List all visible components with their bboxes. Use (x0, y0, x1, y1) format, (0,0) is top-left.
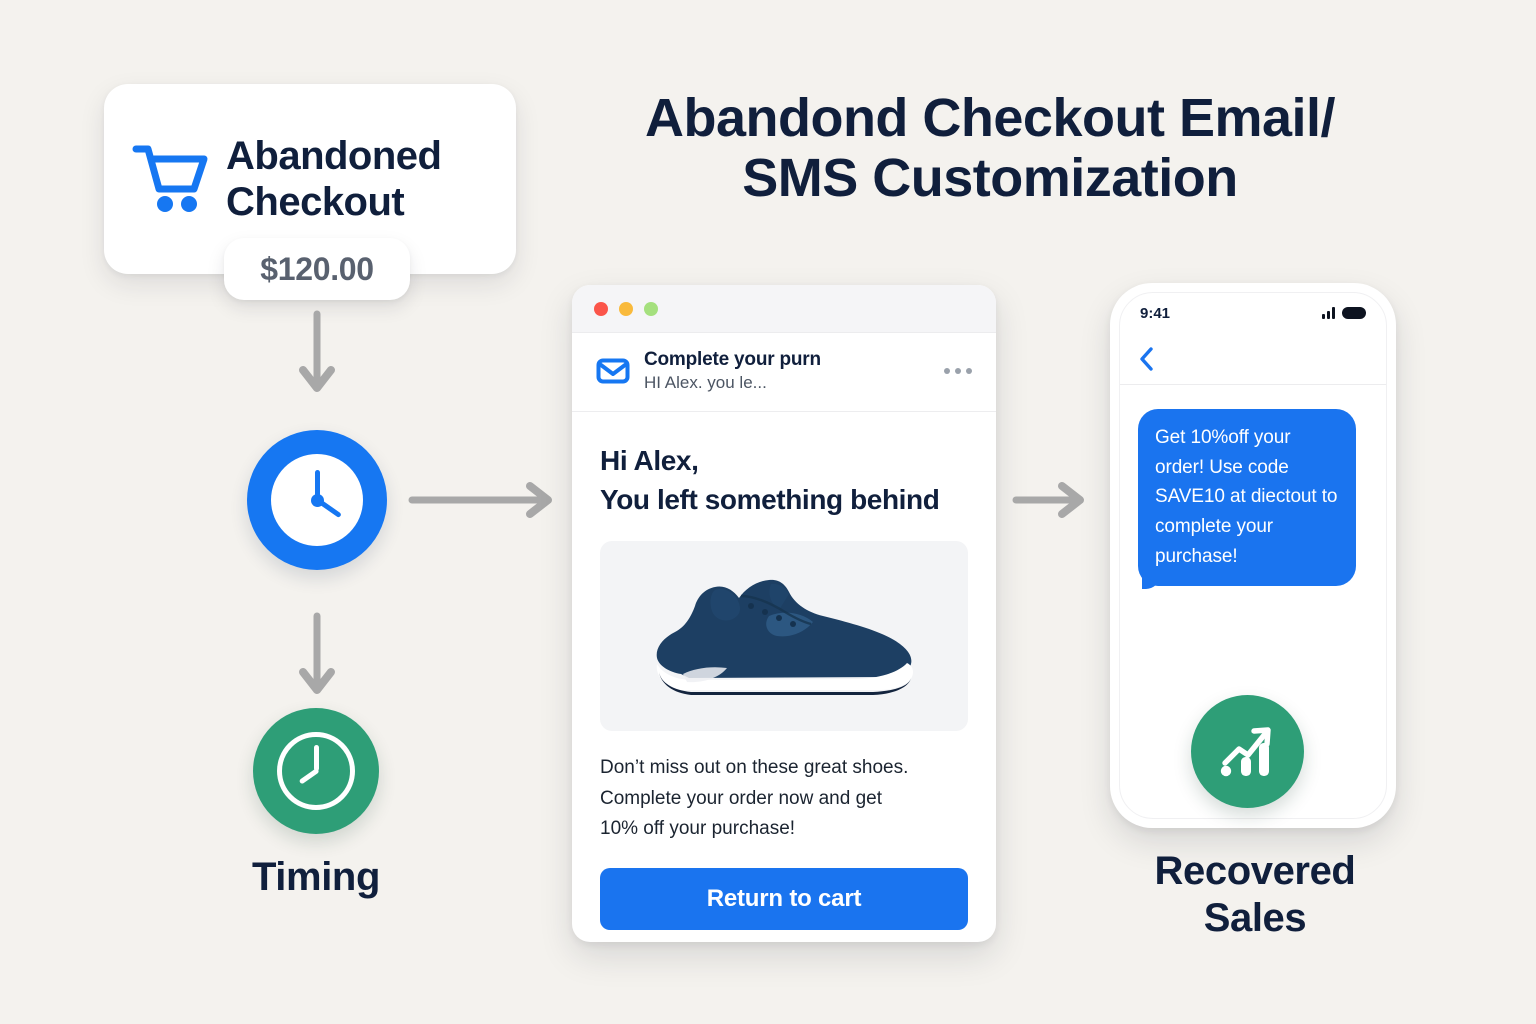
status-indicators (1322, 307, 1366, 319)
recovered-sales-label: Recovered Sales (1120, 848, 1390, 942)
email-greeting-line1: Hi Alex, (600, 442, 968, 481)
close-icon[interactable] (594, 302, 608, 316)
minimize-icon[interactable] (619, 302, 633, 316)
abandoned-checkout-title: Abandoned Checkout (226, 133, 441, 226)
arrow-right-icon (408, 480, 558, 520)
email-preview-text: HI Alex. you le... (644, 373, 930, 393)
arrow-right-icon (1012, 480, 1090, 520)
more-options-icon[interactable] (944, 368, 976, 374)
window-title-bar (572, 285, 996, 333)
timing-label: Timing (186, 855, 446, 900)
email-list-item[interactable]: Complete your purn HI Alex. you le... (572, 333, 996, 412)
email-body-line1: Don’t miss out on these great shoes. (600, 753, 968, 783)
battery-full-icon (1342, 307, 1366, 319)
recovered-sales-line2: Sales (1120, 895, 1390, 942)
email-subject: Complete your purn (644, 349, 930, 371)
recovered-sales-line1: Recovered (1155, 849, 1356, 893)
phone-status-bar: 9:41 (1120, 293, 1386, 333)
email-body-line2: Complete your order now and get (600, 784, 968, 814)
chevron-left-icon[interactable] (1138, 346, 1154, 372)
clock-hand-minute (314, 745, 319, 771)
envelope-icon (596, 358, 630, 384)
clock-icon (247, 430, 387, 570)
clock-outline-icon (253, 708, 379, 834)
shopping-cart-icon (132, 143, 210, 215)
sms-thread: Get 10%off your order! Use code SAVE10 a… (1120, 385, 1386, 586)
cart-value-badge: $120.00 (224, 238, 410, 300)
email-greeting-line2: You left something behind (600, 481, 968, 520)
status-time: 9:41 (1140, 305, 1170, 322)
product-image (600, 541, 968, 731)
page-title: Abandond Checkout Email/ SMS Customizati… (575, 88, 1405, 209)
arrow-down-icon (297, 310, 337, 396)
email-body-line3: 10% off your purchase! (600, 814, 968, 844)
signal-bars-icon (1322, 307, 1335, 319)
messages-nav-bar (1120, 333, 1386, 385)
growth-chart-icon (1191, 695, 1304, 808)
email-greeting: Hi Alex, You left something behind (600, 442, 968, 519)
email-item-text: Complete your purn HI Alex. you le... (644, 349, 930, 393)
clock-face (271, 454, 363, 546)
email-body: Hi Alex, You left something behind (572, 412, 996, 930)
return-to-cart-button[interactable]: Return to cart (600, 868, 968, 930)
sms-bubble: Get 10%off your order! Use code SAVE10 a… (1138, 409, 1356, 586)
infographic-canvas: Abandond Checkout Email/ SMS Customizati… (0, 0, 1536, 1024)
maximize-icon[interactable] (644, 302, 658, 316)
clock-hand-hour (298, 768, 319, 785)
page-title-line2: SMS Customization (575, 148, 1405, 208)
page-title-line1: Abandond Checkout Email/ (645, 88, 1335, 148)
email-body-copy: Don’t miss out on these great shoes. Com… (600, 753, 968, 844)
abandoned-checkout-title-line2: Checkout (226, 179, 441, 225)
arrow-down-icon (297, 612, 337, 698)
abandoned-checkout-title-line1: Abandoned (226, 133, 441, 179)
email-preview-window: Complete your purn HI Alex. you le... Hi… (572, 285, 996, 942)
clock-outline-ring (277, 732, 355, 810)
clock-center-dot (311, 494, 324, 507)
